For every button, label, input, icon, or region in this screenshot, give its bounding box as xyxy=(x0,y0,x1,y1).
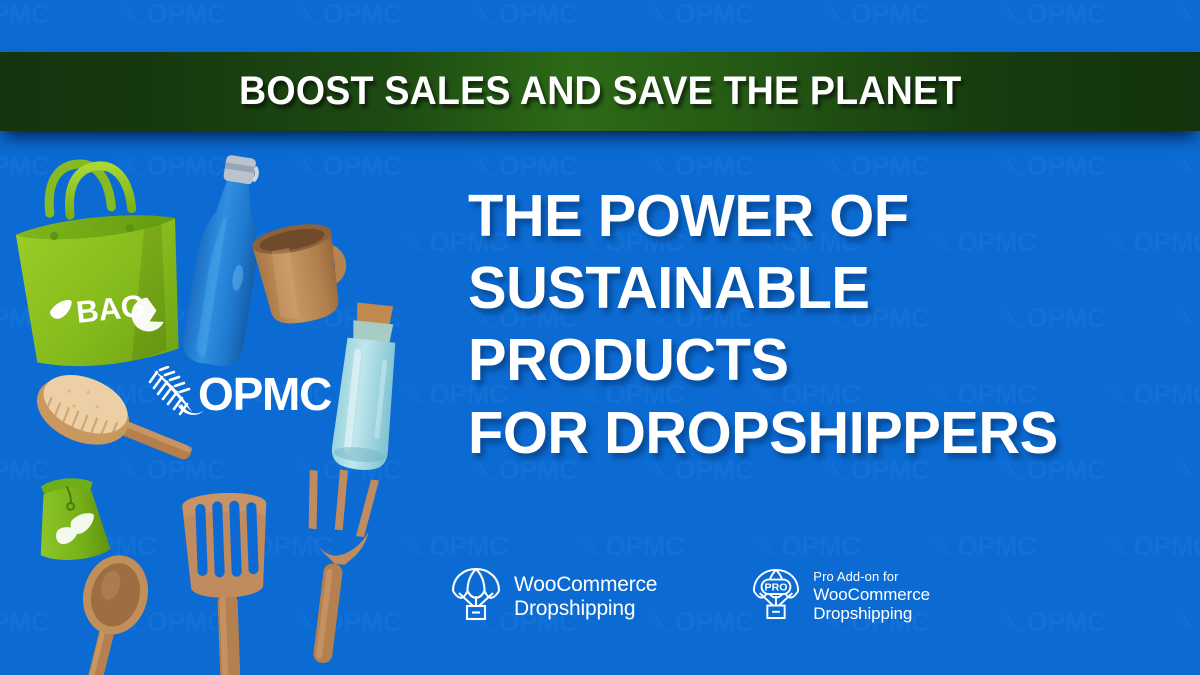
fern-icon xyxy=(1172,1,1200,27)
fern-icon xyxy=(292,1,326,27)
fern-icon xyxy=(996,153,1030,179)
fern-icon xyxy=(468,153,502,179)
product-wooden-spatula xyxy=(165,483,295,675)
fern-icon xyxy=(398,533,432,559)
fern-icon xyxy=(574,533,608,559)
fern-icon xyxy=(116,1,150,27)
dropshipping-label: Dropshipping xyxy=(514,597,657,621)
pro-dropshipping-label: Dropshipping xyxy=(813,604,930,623)
woocommerce-label: WooCommerce xyxy=(514,573,657,597)
headline-block: THE POWER OF SUSTAINABLE PRODUCTS FOR DR… xyxy=(468,188,1108,462)
svg-text:PRO: PRO xyxy=(765,582,788,594)
parachute-pro-icon: PRO xyxy=(751,567,801,626)
fern-icon xyxy=(996,1,1030,27)
fern-icon xyxy=(1172,609,1200,635)
partner-logo-row: WooCommerce Dropshipping PRO xyxy=(450,566,930,627)
headline-line-3: PRODUCTS xyxy=(468,332,1095,389)
woocommerce-dropshipping-logo: WooCommerce Dropshipping xyxy=(450,566,657,627)
headline-line-2: SUSTAINABLE xyxy=(468,260,1095,317)
fern-icon xyxy=(1172,153,1200,179)
pro-addon-prefix: Pro Add-on for xyxy=(813,570,930,585)
fern-icon xyxy=(1102,533,1136,559)
fern-icon xyxy=(820,153,854,179)
top-banner: BOOST SALES AND SAVE THE PLANET xyxy=(0,52,1200,131)
fern-icon xyxy=(1172,457,1200,483)
product-wooden-spoon xyxy=(62,560,172,675)
fern-icon xyxy=(292,153,326,179)
headline-line-1: THE POWER OF xyxy=(468,188,1095,245)
fern-icon xyxy=(1172,305,1200,331)
fern-icon xyxy=(468,1,502,27)
pro-woocommerce-label: WooCommerce xyxy=(813,585,930,604)
fern-icon xyxy=(750,533,784,559)
product-wooden-fork xyxy=(282,468,392,668)
opmc-wordmark: OPMC xyxy=(198,371,331,417)
fern-icon xyxy=(398,229,432,255)
parachute-icon xyxy=(450,566,502,627)
fern-icon xyxy=(644,1,678,27)
fern-icon xyxy=(996,609,1030,635)
pro-addon-logo: PRO Pro Add-on for WooCommerce Dropshipp… xyxy=(751,567,930,626)
fern-icon xyxy=(926,533,960,559)
fern-icon xyxy=(644,153,678,179)
promo-banner-canvas: OPMCOPMCOPMCOPMCOPMCOPMCOPMCOPMCOPMCOPMC… xyxy=(0,0,1200,675)
headline-line-4: FOR DROPSHIPPERS xyxy=(468,405,1095,462)
banner-title: BOOST SALES AND SAVE THE PLANET xyxy=(239,69,961,114)
fern-icon xyxy=(820,1,854,27)
opmc-brand-logo: OPMC xyxy=(148,366,331,422)
